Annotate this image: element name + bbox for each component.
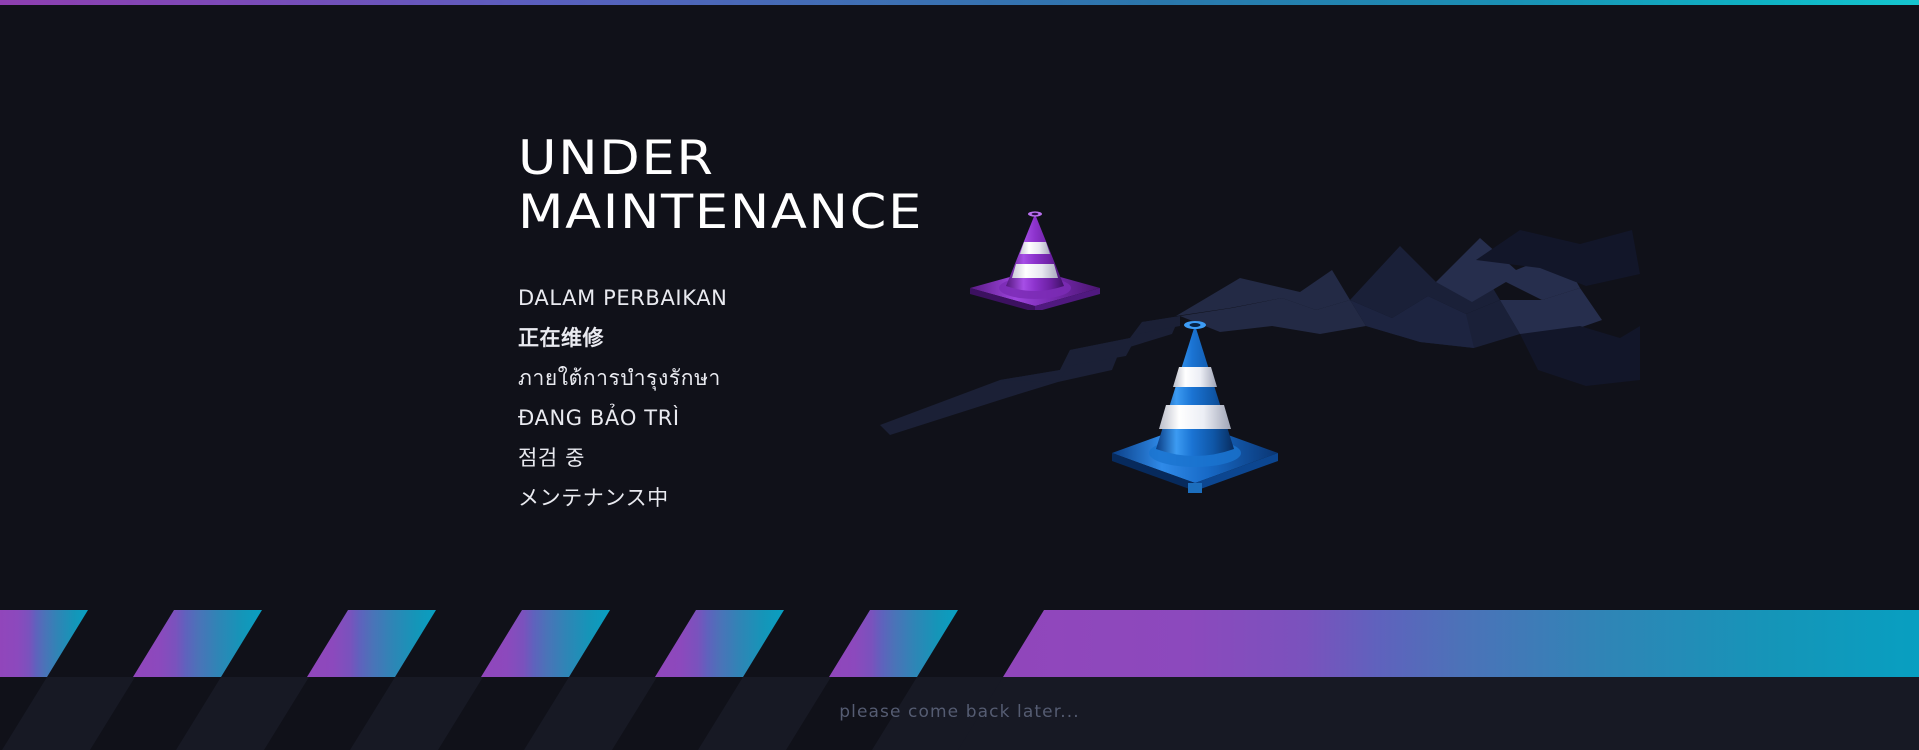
- footer-note: please come back later...: [0, 702, 1919, 722]
- translation-japanese: メンテナンス中: [518, 478, 1158, 518]
- translations-list: DALAM PERBAIKAN 正在维修 ภายใต้การบำรุงรักษา…: [518, 278, 1158, 518]
- hazard-stripe-band: [0, 610, 1919, 677]
- translation-indonesian: DALAM PERBAIKAN: [518, 278, 1158, 318]
- translation-thai: ภายใต้การบำรุงรักษา: [518, 358, 1158, 398]
- page-title: UNDER MAINTENANCE: [518, 132, 1235, 240]
- maintenance-copy: UNDER MAINTENANCE DALAM PERBAIKAN 正在维修 ภ…: [518, 132, 1158, 518]
- maintenance-page: UNDER MAINTENANCE DALAM PERBAIKAN 正在维修 ภ…: [0, 0, 1919, 750]
- top-gradient-bar: [0, 0, 1919, 5]
- translation-chinese: 正在维修: [518, 318, 1158, 358]
- translation-vietnamese: ĐANG BẢO TRÌ: [518, 398, 1158, 438]
- translation-korean: 점검 중: [518, 438, 1158, 478]
